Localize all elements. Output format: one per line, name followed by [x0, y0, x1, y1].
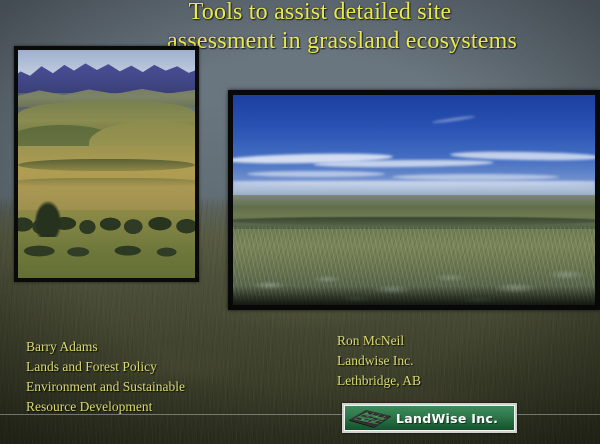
foothills-treeline-band: [18, 159, 195, 170]
presenter-left-line-2: Lands and Forest Policy: [26, 357, 185, 377]
landwise-logo-text: LandWise Inc.: [396, 411, 498, 426]
presenter-block-left: Barry Adams Lands and Forest Policy Envi…: [26, 337, 185, 417]
presenter-left-name: Barry Adams: [26, 337, 185, 357]
presenter-right-line-3: Lethbridge, AB: [337, 371, 421, 391]
presentation-slide: Tools to assist detailed site assessment…: [0, 0, 600, 444]
photo-foothills: [14, 46, 199, 282]
landwise-logo: LandWise Inc.: [342, 403, 517, 433]
foothills-tree-clump: [34, 200, 62, 236]
photo-prairie: [228, 90, 600, 310]
prairie-bottom-shadow: [233, 286, 595, 305]
landwise-logo-inner: LandWise Inc.: [344, 405, 515, 431]
presenter-right-line-2: Landwise Inc.: [337, 351, 421, 371]
prairie-mid-band: [228, 217, 600, 225]
foothills-lower-shrubs: [18, 242, 195, 260]
presenter-left-line-3: Environment and Sustainable: [26, 377, 185, 397]
presenter-block-right: Ron McNeil Landwise Inc. Lethbridge, AB: [337, 331, 421, 391]
land-grid-icon: [346, 407, 394, 429]
prairie-cloud-4: [247, 171, 385, 177]
slide-title-line-1: Tools to assist detailed site: [0, 0, 600, 27]
prairie-cloud-5: [392, 174, 559, 180]
foothills-grass-band: [14, 178, 199, 187]
presenter-right-name: Ron McNeil: [337, 331, 421, 351]
